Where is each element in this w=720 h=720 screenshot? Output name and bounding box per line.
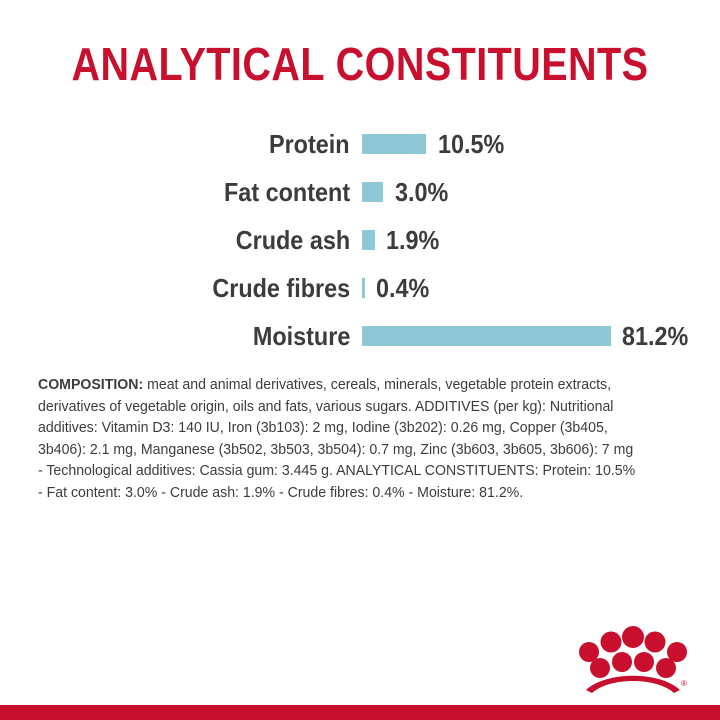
bar-track-protein xyxy=(362,120,426,168)
bar-value-crude-fibres: 0.4% xyxy=(376,264,429,312)
bar-track-moisture xyxy=(362,312,611,360)
product-label-panel: ANALYTICAL CONSTITUENTS Protein 10.5% Fa… xyxy=(0,0,720,720)
chart-row: Protein 10.5% xyxy=(0,120,720,168)
chart-row: Moisture 81.2% xyxy=(0,312,720,360)
bar-fill-moisture xyxy=(362,326,611,346)
page-title: ANALYTICAL CONSTITUENTS xyxy=(50,38,669,90)
bottom-accent-bar xyxy=(0,705,720,720)
bar-track-fat-content xyxy=(362,168,383,216)
bar-fill-crude-fibres xyxy=(362,278,365,298)
bar-fill-protein xyxy=(362,134,426,154)
bar-value-crude-ash: 1.9% xyxy=(386,216,439,264)
bar-label-protein: Protein xyxy=(269,120,350,168)
registered-trademark-mark: ® xyxy=(681,679,687,688)
bar-fill-fat-content xyxy=(362,182,383,202)
bar-label-crude-fibres: Crude fibres xyxy=(212,264,350,312)
composition-text: COMPOSITION: meat and animal derivatives… xyxy=(38,374,641,503)
analytical-constituents-chart: Protein 10.5% Fat content 3.0% Crude ash… xyxy=(0,120,720,360)
bar-value-fat-content: 3.0% xyxy=(395,168,448,216)
bar-value-protein: 10.5% xyxy=(438,120,504,168)
bar-label-crude-ash: Crude ash xyxy=(236,216,350,264)
composition-body: meat and animal derivatives, cereals, mi… xyxy=(38,376,635,501)
bar-label-fat-content: Fat content xyxy=(224,168,350,216)
royal-canin-crown-icon: ® xyxy=(578,622,688,696)
chart-row: Crude fibres 0.4% xyxy=(0,264,720,312)
bar-track-crude-fibres xyxy=(362,264,365,312)
bar-fill-crude-ash xyxy=(362,230,375,250)
bar-track-crude-ash xyxy=(362,216,375,264)
bar-value-moisture: 81.2% xyxy=(622,312,688,360)
composition-heading: COMPOSITION: xyxy=(38,376,143,393)
chart-row: Fat content 3.0% xyxy=(0,168,720,216)
chart-row: Crude ash 1.9% xyxy=(0,216,720,264)
bar-label-moisture: Moisture xyxy=(252,312,350,360)
